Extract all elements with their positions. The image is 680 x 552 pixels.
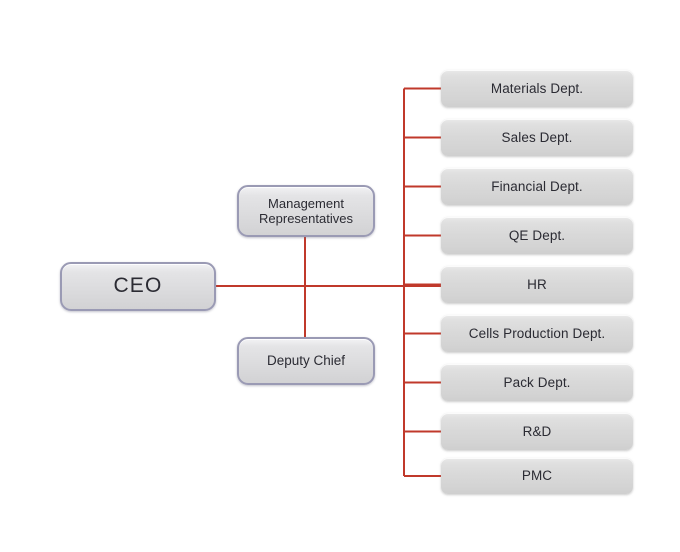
node-department-2[interactable]: Financial Dept. <box>441 168 633 205</box>
node-management-representatives-line2: Representatives <box>259 211 353 226</box>
node-department-5[interactable]: Cells Production Dept. <box>441 315 633 352</box>
node-department-1[interactable]: Sales Dept. <box>441 119 633 156</box>
node-management-representatives[interactable]: Management Representatives <box>237 185 375 237</box>
org-chart-canvas: CEO Management Representatives Deputy Ch… <box>0 0 680 552</box>
node-department-3[interactable]: QE Dept. <box>441 217 633 254</box>
node-department-label: R&D <box>523 424 552 440</box>
node-department-label: PMC <box>522 468 552 484</box>
node-deputy-chief-label: Deputy Chief <box>267 353 345 369</box>
node-department-0[interactable]: Materials Dept. <box>441 70 633 107</box>
node-department-label: HR <box>527 277 547 293</box>
node-management-representatives-line1: Management <box>268 196 344 211</box>
node-ceo-label: CEO <box>113 274 162 298</box>
node-deputy-chief[interactable]: Deputy Chief <box>237 337 375 385</box>
node-department-label: Materials Dept. <box>491 81 583 97</box>
node-ceo[interactable]: CEO <box>60 262 216 311</box>
node-management-representatives-label: Management Representatives <box>259 196 353 226</box>
node-department-label: Sales Dept. <box>502 130 573 146</box>
node-department-8[interactable]: PMC <box>441 458 633 494</box>
node-department-6[interactable]: Pack Dept. <box>441 364 633 401</box>
node-department-label: Cells Production Dept. <box>469 326 606 342</box>
node-department-label: Financial Dept. <box>491 179 583 195</box>
node-department-label: Pack Dept. <box>503 375 570 391</box>
node-department-4[interactable]: HR <box>441 266 633 303</box>
node-department-7[interactable]: R&D <box>441 413 633 450</box>
node-department-label: QE Dept. <box>509 228 565 244</box>
